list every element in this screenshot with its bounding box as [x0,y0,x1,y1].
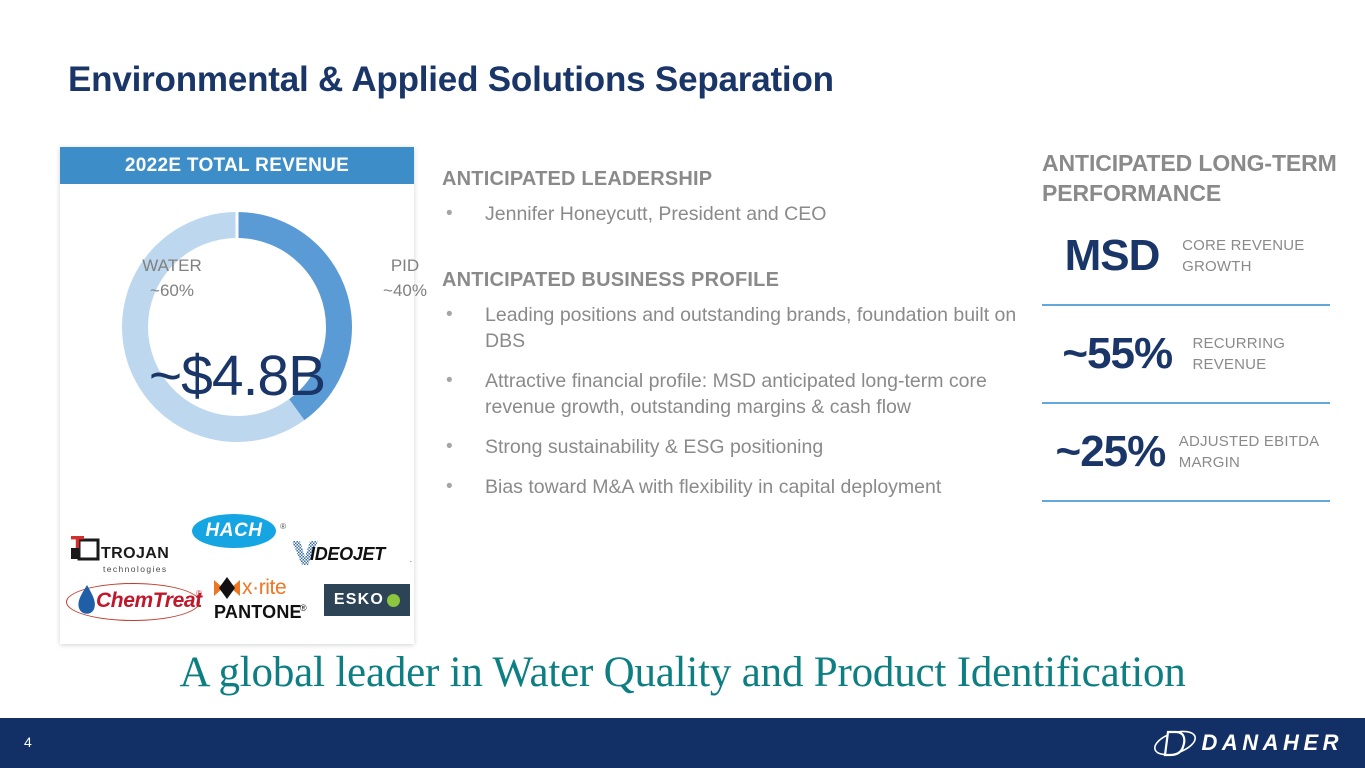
logo-pantone-label: PANTONE [214,602,302,623]
bullet-glyph: • [446,302,453,328]
metric-adjusted-ebitda-margin: ~25% ADJUSTED EBITDA MARGIN [1042,404,1342,500]
donut-svg [113,203,361,451]
logo-chemtreat-label: ChemTreat [96,589,202,613]
metric-label: CORE REVENUE GROWTH [1182,235,1342,277]
esko-dot-icon [387,594,400,607]
chemtreat-droplet-icon [76,583,98,617]
list-item-text: Attractive financial profile: MSD antici… [485,370,987,418]
performance-heading: ANTICIPATED LONG-TERM PERFORMANCE [1042,148,1342,208]
danaher-d-icon [1152,728,1198,758]
metric-label: ADJUSTED EBITDA MARGIN [1179,431,1342,473]
brand-logo-area: TROJAN technologies HACH ® [60,492,414,642]
logo-esko: ESKO [320,572,414,630]
logo-trojan: TROJAN technologies [60,502,190,560]
donut-label-water-share: ~60% [150,281,194,300]
list-item: • Bias toward M&A with flexibility in ca… [442,474,1022,500]
logo-esko-label: ESKO [334,591,384,609]
donut-label-pid-share: ~40% [383,281,427,300]
donut-label-water-name: WATER [142,256,202,275]
metric-divider [1042,500,1330,502]
metric-label: RECURRING REVENUE [1192,333,1342,375]
donut-label-pid: PID ~40% [365,253,445,303]
middle-column: ANTICIPATED LEADERSHIP • Jennifer Honeyc… [442,168,1022,514]
logo-pantone-registered: ® [300,603,307,613]
hach-ellipse-icon: HACH [192,514,276,548]
slide: Environmental & Applied Solutions Separa… [0,0,1365,768]
logo-xrite-label: x·rite [242,576,286,600]
logo-hach-label: HACH [206,520,263,542]
list-item: • Strong sustainability & ESG positionin… [442,434,1022,460]
performance-column: ANTICIPATED LONG-TERM PERFORMANCE MSD CO… [1042,148,1342,502]
bullet-glyph: • [446,368,453,394]
logo-videojet-registered: . [410,555,412,564]
list-item-text: Leading positions and outstanding brands… [485,304,1016,352]
logo-xrite-pantone: x·rite PANTONE ® [208,572,320,630]
danaher-logo: DANAHER [1152,728,1344,758]
list-item-text: Strong sustainability & ESG positioning [485,436,823,458]
leadership-heading: ANTICIPATED LEADERSHIP [442,168,1022,191]
logo-trojan-label: TROJAN [101,545,169,563]
tagline: A global leader in Water Quality and Pro… [0,648,1365,697]
logo-videojet: IDEOJET . [290,502,414,560]
revenue-donut-chart: WATER ~60% PID ~40% ~$4.8B [60,195,414,485]
metric-recurring-revenue: ~55% RECURRING REVENUE [1042,306,1342,402]
metric-value: ~25% [1042,427,1179,477]
profile-bullet-list: • Leading positions and outstanding bran… [442,302,1022,500]
logo-hach: HACH ® [190,502,290,560]
danaher-wordmark: DANAHER [1202,730,1344,756]
list-item-text: Jennifer Honeycutt, President and CEO [485,203,826,225]
list-item: • Jennifer Honeycutt, President and CEO [442,201,1022,227]
xrite-mark-icon [214,577,240,599]
bullet-glyph: • [446,474,453,500]
brand-logo-row-1: TROJAN technologies HACH ® [60,502,414,560]
trojan-mark-icon [70,535,100,563]
list-item: • Leading positions and outstanding bran… [442,302,1022,354]
donut-label-water: WATER ~60% [122,253,222,303]
footer-bar: 4 DANAHER [0,718,1365,768]
logo-chemtreat: ChemTreat ® [60,572,208,630]
bullet-glyph: • [446,201,453,227]
page-number: 4 [24,734,32,750]
metric-value: ~55% [1042,329,1192,379]
leadership-bullet-list: • Jennifer Honeycutt, President and CEO [442,201,1022,227]
revenue-card-header: 2022E TOTAL REVENUE [60,147,414,184]
logo-videojet-label: IDEOJET [310,544,385,565]
logo-hach-registered: ® [280,522,286,531]
esko-box-icon: ESKO [324,584,410,616]
page-title: Environmental & Applied Solutions Separa… [68,60,834,100]
revenue-card: 2022E TOTAL REVENUE WATER ~60% PID ~40% … [60,147,414,644]
logo-chemtreat-registered: ® [196,589,202,598]
bullet-glyph: • [446,434,453,460]
metric-value: MSD [1042,231,1182,281]
list-item: • Attractive financial profile: MSD anti… [442,368,1022,420]
metric-core-revenue-growth: MSD CORE REVENUE GROWTH [1042,208,1342,304]
list-item-text: Bias toward M&A with flexibility in capi… [485,476,941,498]
donut-label-pid-name: PID [391,256,419,275]
donut-center-value: ~$4.8B [60,343,414,409]
profile-heading: ANTICIPATED BUSINESS PROFILE [442,269,1022,292]
brand-logo-row-2: ChemTreat ® x·rite PANTONE ® [60,572,414,630]
